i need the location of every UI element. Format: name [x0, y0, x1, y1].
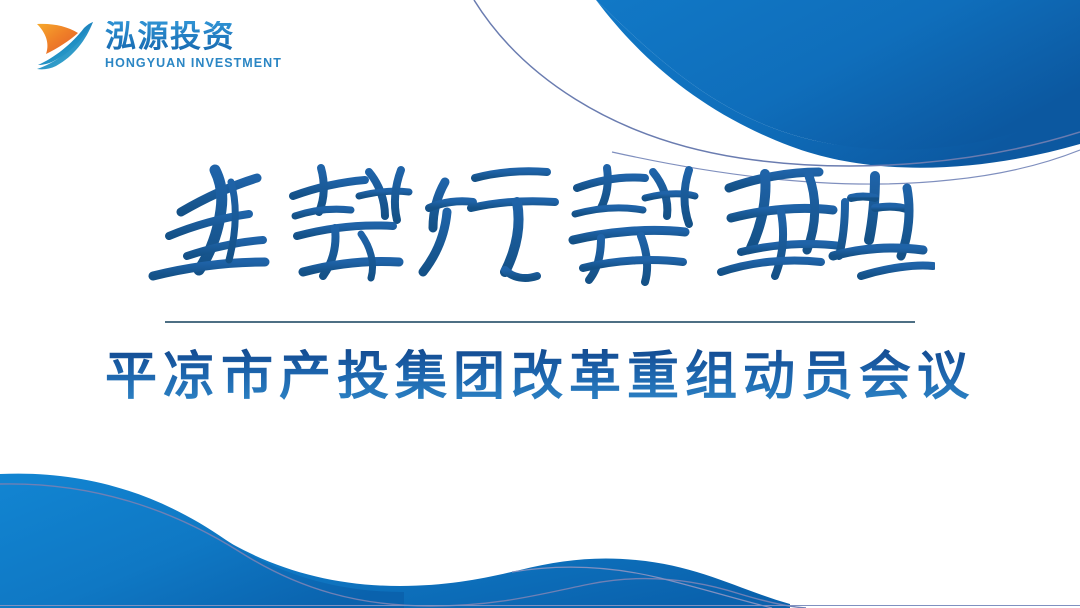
bottom-left-blue-wave	[0, 475, 790, 608]
event-subtitle: 平凉市产投集团改革重组动员会议	[0, 346, 1080, 407]
bottom-thin-outline-curve	[0, 484, 806, 608]
top-right-blue-wave-lower-lobe	[596, 0, 1080, 168]
bottom-thin-outline-curve-secondary	[512, 567, 772, 608]
background-decoration-layer	[0, 0, 1080, 608]
bottom-left-blue-wave-upper-lobe	[0, 474, 404, 608]
headline-calligraphy: 重整行装 再出发	[0, 148, 1080, 298]
logo-company-name-en: HONGYUAN INVESTMENT	[105, 57, 282, 70]
logo-wordmark: 泓源投资 HONGYUAN INVESTMENT	[105, 21, 282, 70]
brand-logo[interactable]: 泓源投资 HONGYUAN INVESTMENT	[34, 18, 282, 72]
headline-divider-rule	[165, 321, 915, 323]
logo-company-name-cn: 泓源投资	[105, 21, 282, 52]
hongyuan-swoosh-mark-icon	[34, 18, 96, 72]
top-thin-outline-curve	[474, 0, 1080, 166]
top-right-blue-wave	[596, 0, 1080, 151]
calligraphy-strokes: 重整行装 再出发	[145, 152, 935, 294]
banner-canvas: 泓源投资 HONGYUAN INVESTMENT	[0, 0, 1080, 608]
